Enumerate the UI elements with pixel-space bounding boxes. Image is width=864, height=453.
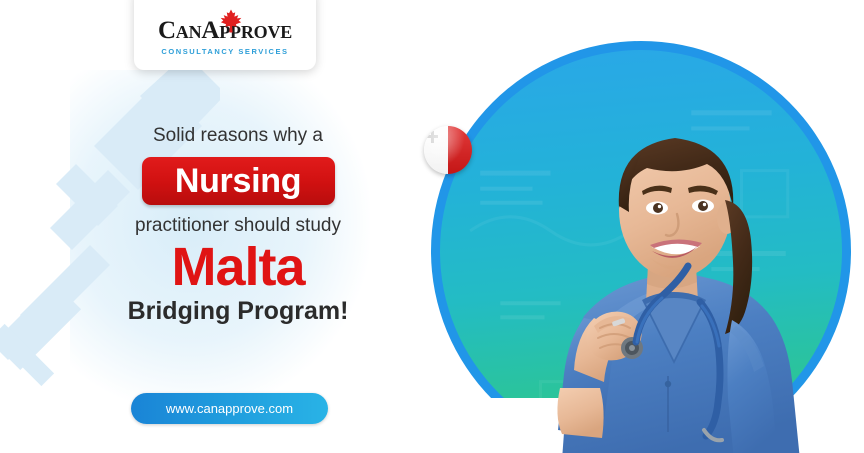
headline-block: Solid reasons why a Nursing practitioner… [112, 124, 364, 326]
headline-highlight-badge: Nursing [142, 157, 335, 205]
brand-logo-wordmark: CANAPPROVE [158, 18, 292, 43]
flag-gloss [424, 126, 472, 174]
headline-line-3: Bridging Program! [112, 297, 364, 326]
photo-medallion [431, 41, 851, 453]
logo-letters-an: AN [176, 22, 202, 42]
brand-logo-card[interactable]: CANAPPROVE CONSULTANCY SERVICES [134, 0, 316, 70]
malta-flag-icon [424, 126, 472, 174]
headline-line-1: Solid reasons why a [112, 124, 364, 148]
website-url-button[interactable]: www.canapprove.com [131, 393, 328, 424]
medallion-watermark [440, 50, 842, 452]
maple-leaf-icon [220, 9, 242, 33]
promo-banner: CANAPPROVE CONSULTANCY SERVICES Solid re… [0, 0, 864, 453]
brand-tagline: CONSULTANCY SERVICES [161, 47, 288, 56]
medallion-gradient [440, 50, 842, 452]
headline-country: Malta [112, 239, 364, 295]
logo-letter-c: C [158, 17, 176, 44]
headline-line-2: practitioner should study [112, 215, 364, 237]
medallion-bottom-mask [395, 398, 695, 453]
logo-letter-a: A [201, 17, 219, 44]
